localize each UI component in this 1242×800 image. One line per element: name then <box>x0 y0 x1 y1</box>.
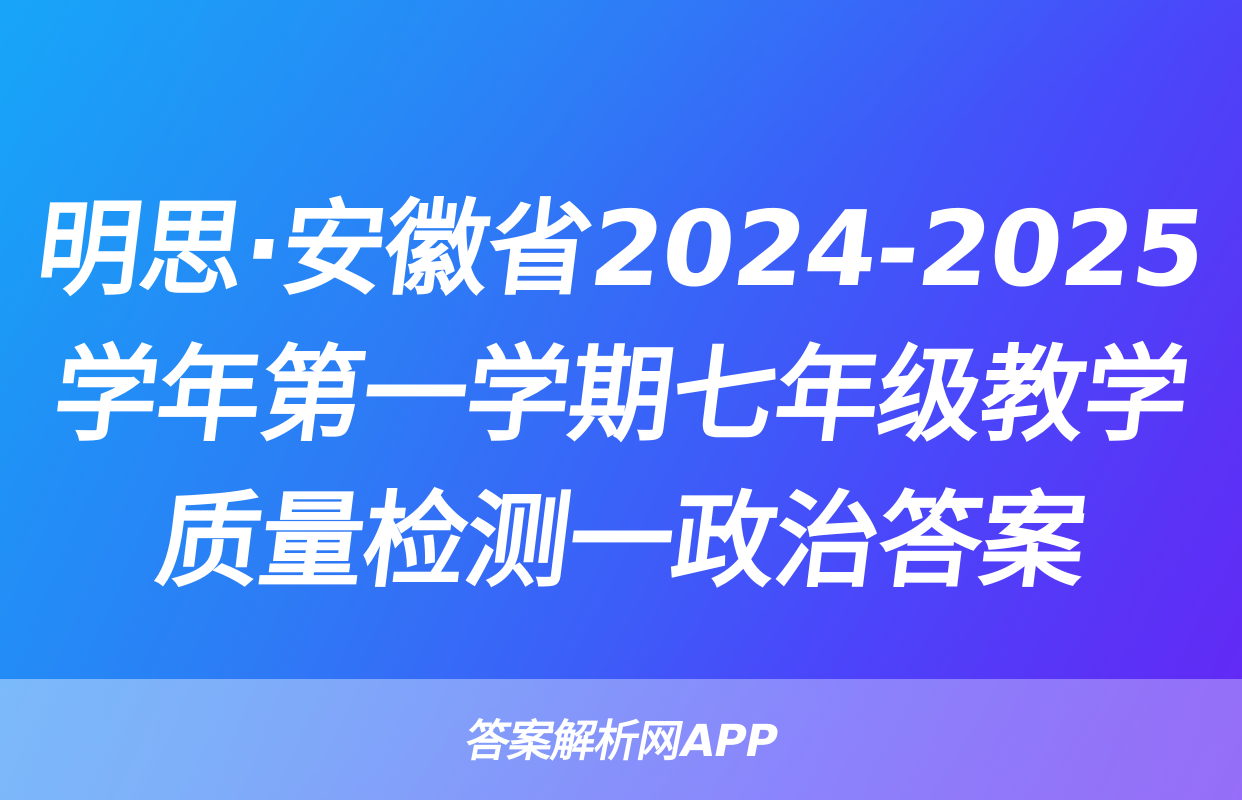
footer-watermark-band: 答案解析网APP <box>0 679 1242 800</box>
app-watermark-label: 答案解析网APP <box>461 720 780 764</box>
title-line-3: 质量检测一政治答案 <box>0 468 1242 614</box>
poster-title: 明思·安徽省2024-2025 学年第一学期七年级教学 质量检测一政治答案 <box>0 176 1242 614</box>
poster-canvas: 明思·安徽省2024-2025 学年第一学期七年级教学 质量检测一政治答案 答案… <box>0 0 1242 800</box>
title-line-2: 学年第一学期七年级教学 <box>0 322 1242 468</box>
title-line-1: 明思·安徽省2024-2025 <box>0 176 1242 322</box>
